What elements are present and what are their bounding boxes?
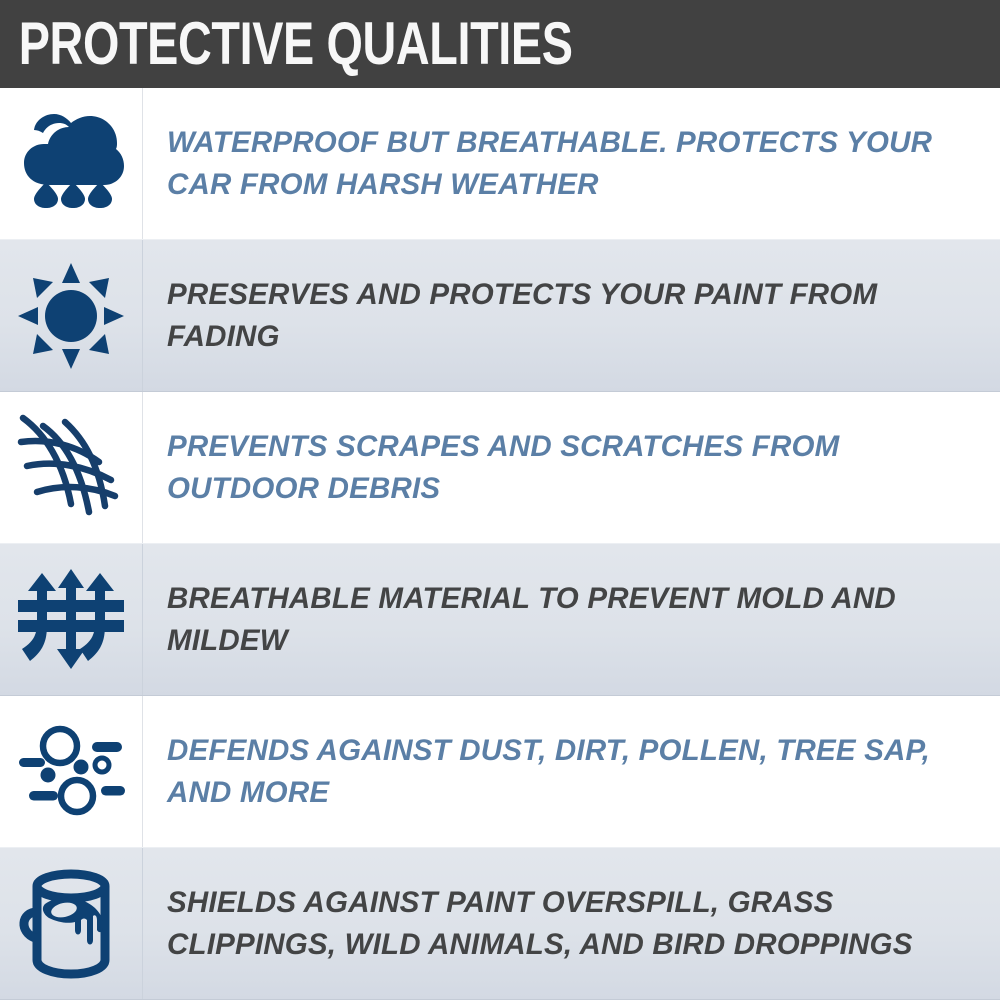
icon-cell bbox=[0, 544, 143, 695]
feature-row-uv-protection: PRESERVES AND PROTECTS YOUR PAINT FROM F… bbox=[0, 239, 1000, 392]
text-cell: PRESERVES AND PROTECTS YOUR PAINT FROM F… bbox=[143, 240, 1000, 391]
feature-text: PRESERVES AND PROTECTS YOUR PAINT FROM F… bbox=[167, 274, 978, 358]
feature-text: SHIELDS AGAINST PAINT OVERSPILL, GRASS C… bbox=[167, 882, 978, 966]
breathable-airflow-arrows-icon bbox=[16, 565, 126, 675]
text-cell: PREVENTS SCRAPES AND SCRATCHES FROM OUTD… bbox=[143, 392, 1000, 543]
feature-row-waterproof: WATERPROOF BUT BREATHABLE. PROTECTS YOUR… bbox=[0, 88, 1000, 239]
header-bar: PROTECTIVE QUALITIES bbox=[0, 0, 1000, 88]
feature-row-dust-defense: DEFENDS AGAINST DUST, DIRT, POLLEN, TREE… bbox=[0, 696, 1000, 847]
feature-row-scratch-resistance: PREVENTS SCRAPES AND SCRATCHES FROM OUTD… bbox=[0, 392, 1000, 543]
feature-row-breathability: BREATHABLE MATERIAL TO PREVENT MOLD AND … bbox=[0, 543, 1000, 696]
feature-row-paint-shield: SHIELDS AGAINST PAINT OVERSPILL, GRASS C… bbox=[0, 847, 1000, 1000]
icon-cell bbox=[0, 696, 143, 847]
dust-particles-icon bbox=[15, 720, 127, 824]
icon-cell bbox=[0, 848, 143, 999]
rain-cloud-icon bbox=[16, 109, 126, 219]
text-cell: BREATHABLE MATERIAL TO PREVENT MOLD AND … bbox=[143, 544, 1000, 695]
text-cell: SHIELDS AGAINST PAINT OVERSPILL, GRASS C… bbox=[143, 848, 1000, 999]
text-cell: WATERPROOF BUT BREATHABLE. PROTECTS YOUR… bbox=[143, 88, 1000, 239]
sun-icon bbox=[16, 261, 126, 371]
feature-list: WATERPROOF BUT BREATHABLE. PROTECTS YOUR… bbox=[0, 88, 1000, 1000]
icon-cell bbox=[0, 392, 143, 543]
woven-mesh-icon bbox=[15, 408, 127, 528]
protective-qualities-infographic: PROTECTIVE QUALITIES WATERPROOF BUT BREA… bbox=[0, 0, 1000, 1000]
feature-text: WATERPROOF BUT BREATHABLE. PROTECTS YOUR… bbox=[167, 122, 978, 206]
icon-cell bbox=[0, 240, 143, 391]
paint-bucket-icon bbox=[15, 868, 127, 980]
feature-text: DEFENDS AGAINST DUST, DIRT, POLLEN, TREE… bbox=[167, 730, 978, 814]
page-title: PROTECTIVE QUALITIES bbox=[0, 14, 573, 74]
text-cell: DEFENDS AGAINST DUST, DIRT, POLLEN, TREE… bbox=[143, 696, 1000, 847]
feature-text: PREVENTS SCRAPES AND SCRATCHES FROM OUTD… bbox=[167, 426, 978, 510]
feature-text: BREATHABLE MATERIAL TO PREVENT MOLD AND … bbox=[167, 578, 978, 662]
icon-cell bbox=[0, 88, 143, 239]
